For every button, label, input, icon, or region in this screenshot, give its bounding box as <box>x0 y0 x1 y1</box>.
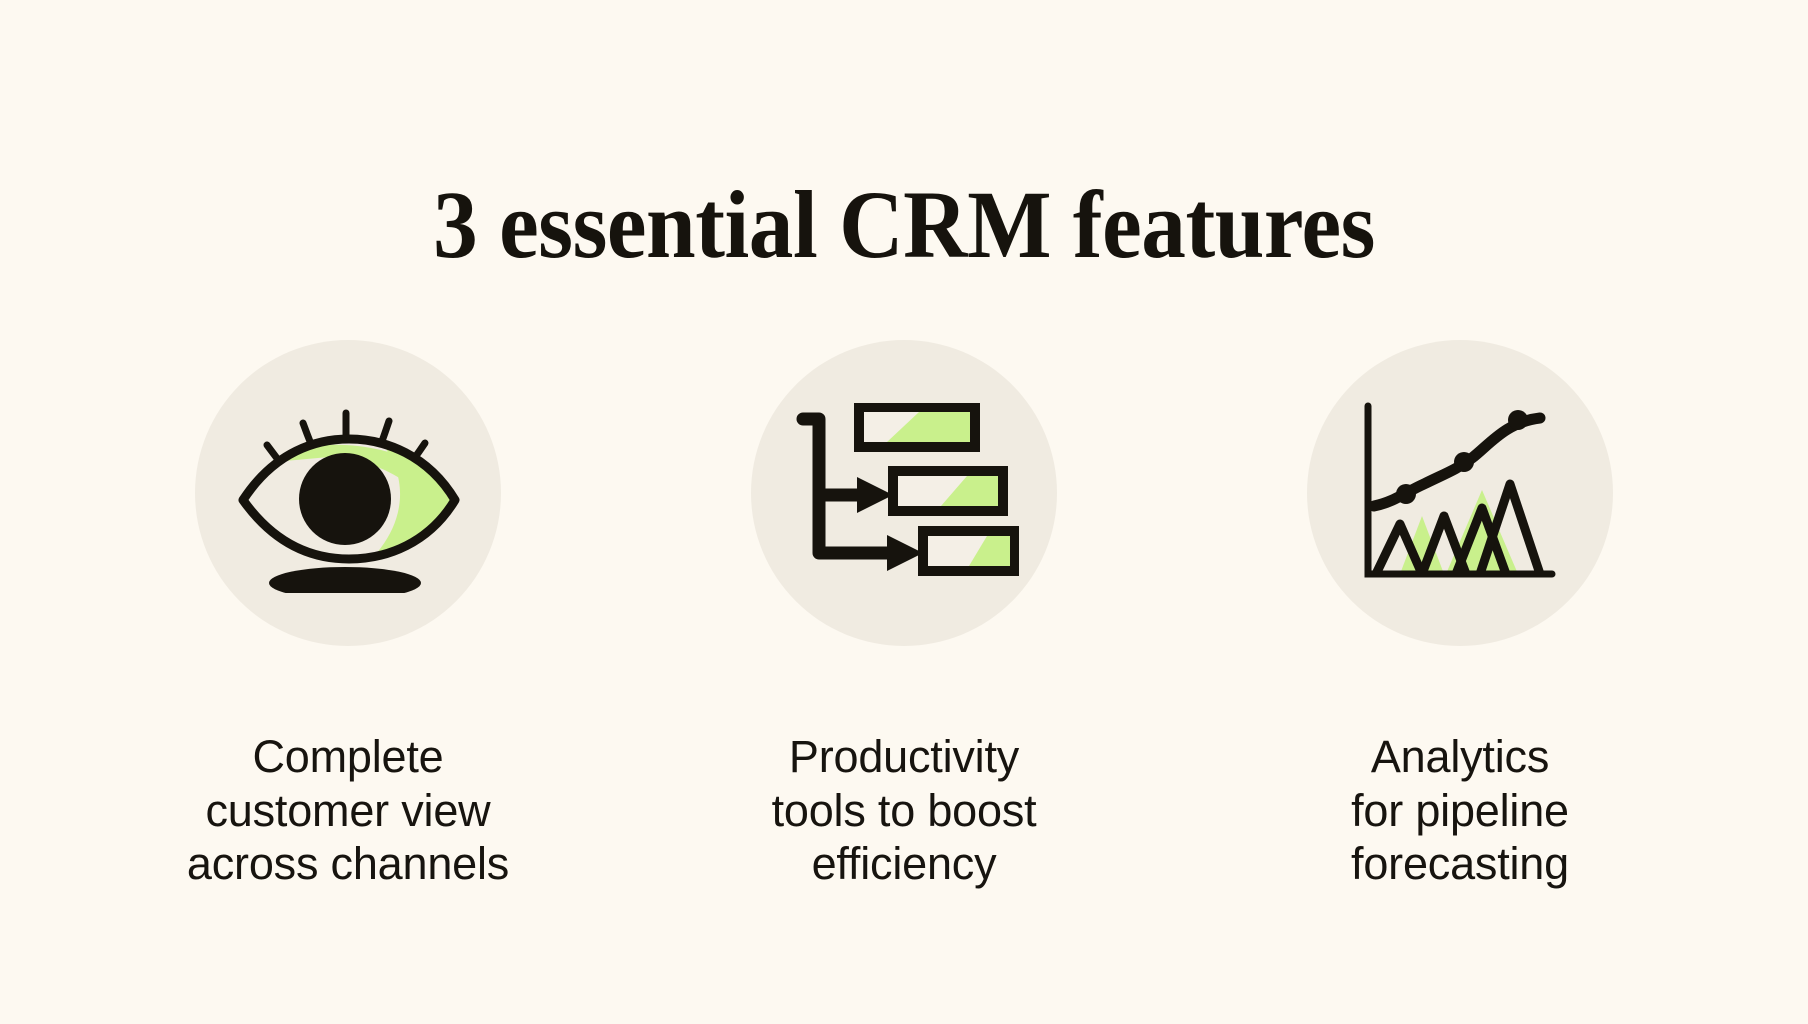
analytics-chart-icon <box>1360 398 1560 588</box>
icon-circle-1 <box>195 340 501 646</box>
eye-icon <box>233 393 463 593</box>
workflow-bars-icon <box>789 403 1019 583</box>
feature-caption-2: Productivity tools to boost efficiency <box>772 730 1037 891</box>
page-title: 3 essential CRM features <box>63 176 1744 274</box>
feature-item-complete-customer-view: Complete customer view across channels <box>70 340 626 936</box>
feature-caption-3: Analytics for pipeline forecasting <box>1351 730 1569 891</box>
feature-item-productivity-tools: Productivity tools to boost efficiency <box>626 340 1182 936</box>
slide-canvas: 3 essential CRM features <box>0 0 1808 1024</box>
feature-columns: Complete customer view across channels <box>0 340 1808 936</box>
icon-circle-3 <box>1307 340 1613 646</box>
feature-item-analytics-forecasting: Analytics for pipeline forecasting <box>1182 340 1738 936</box>
feature-caption-1: Complete customer view across channels <box>187 730 509 891</box>
icon-circle-2 <box>751 340 1057 646</box>
